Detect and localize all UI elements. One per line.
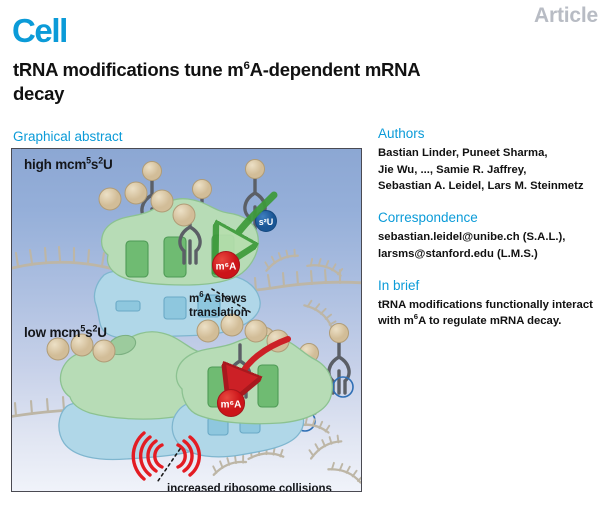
in-brief-text: tRNA modifications functionally interact… — [378, 297, 610, 330]
panel-bot-prefix: low mcm — [24, 325, 80, 340]
panel-bot-suffix: U — [97, 325, 107, 340]
annotation-top-rest: A slows — [204, 293, 247, 305]
in-brief-line-1: tRNA modifications functionally interact — [378, 297, 610, 314]
article-type-kicker: Article — [534, 4, 598, 28]
graphical-abstract-label: Graphical abstract — [13, 129, 123, 144]
ribosome-a-site-large-stalled — [258, 365, 278, 407]
correspondence-email-1[interactable]: sebastian.leidel@unibe.ch (S.A.L.), — [378, 229, 610, 246]
svg-text:m⁶A: m⁶A — [216, 262, 237, 273]
panel-label-low-modification: low mcm5s2U — [24, 325, 107, 340]
ribosome-e-site-large — [126, 241, 148, 277]
page-title: tRNA modifications tune m6A-dependent mR… — [13, 58, 443, 105]
journal-logo: Cell — [12, 14, 67, 47]
annotation-top-line1: m6A slows — [189, 292, 248, 306]
ribosome-e-site — [116, 301, 140, 311]
in-brief-heading: In brief — [378, 278, 610, 293]
panel-top-prefix: high mcm — [24, 157, 86, 172]
authors-list: Bastian Linder, Puneet Sharma, Jie Wu, .… — [378, 145, 610, 195]
in-brief-line2-suffix: A to regulate mRNA decay. — [418, 315, 561, 327]
in-brief-line2-prefix: with m — [378, 315, 414, 327]
title-text-part1: tRNA modifications tune m — [13, 59, 243, 80]
annotation-increased-ribosome-collisions: increased ribosome collisions — [167, 482, 332, 492]
authors-heading: Authors — [378, 126, 610, 141]
graphical-abstract-illustration: s²U s²U s²U — [12, 149, 361, 491]
annotation-top-line2: translation — [189, 306, 248, 320]
correspondence-heading: Correspondence — [378, 210, 610, 225]
svg-text:s²U: s²U — [259, 217, 274, 227]
authors-line-1: Bastian Linder, Puneet Sharma, — [378, 145, 610, 162]
correspondence-email-2[interactable]: larsms@stanford.edu (L.M.S.) — [378, 246, 610, 263]
ribosome-p-site-small — [164, 297, 186, 319]
authors-line-2: Jie Wu, ..., Samie R. Jaffrey, — [378, 162, 610, 179]
panel-top-suffix: U — [103, 157, 113, 172]
graphical-abstract-figure: high mcm5s2U low mcm5s2U m6A slows trans… — [11, 148, 362, 492]
panel-label-high-modification: high mcm5s2U — [24, 157, 113, 172]
svg-text:m⁶A: m⁶A — [221, 400, 242, 411]
m6a-modification-badge: m⁶A — [213, 252, 240, 279]
in-brief-line-2: with m6A to regulate mRNA decay. — [378, 313, 610, 330]
annotation-m6a-slows-translation: m6A slows translation — [189, 292, 248, 321]
metadata-column: Authors Bastian Linder, Puneet Sharma, J… — [378, 126, 610, 345]
m6a-modification-badge: m⁶A — [218, 390, 245, 417]
correspondence-block: sebastian.leidel@unibe.ch (S.A.L.), lars… — [378, 229, 610, 262]
authors-line-3: Sebastian A. Leidel, Lars M. Steinmetz — [378, 178, 610, 195]
annotation-top-prefix: m — [189, 293, 199, 305]
